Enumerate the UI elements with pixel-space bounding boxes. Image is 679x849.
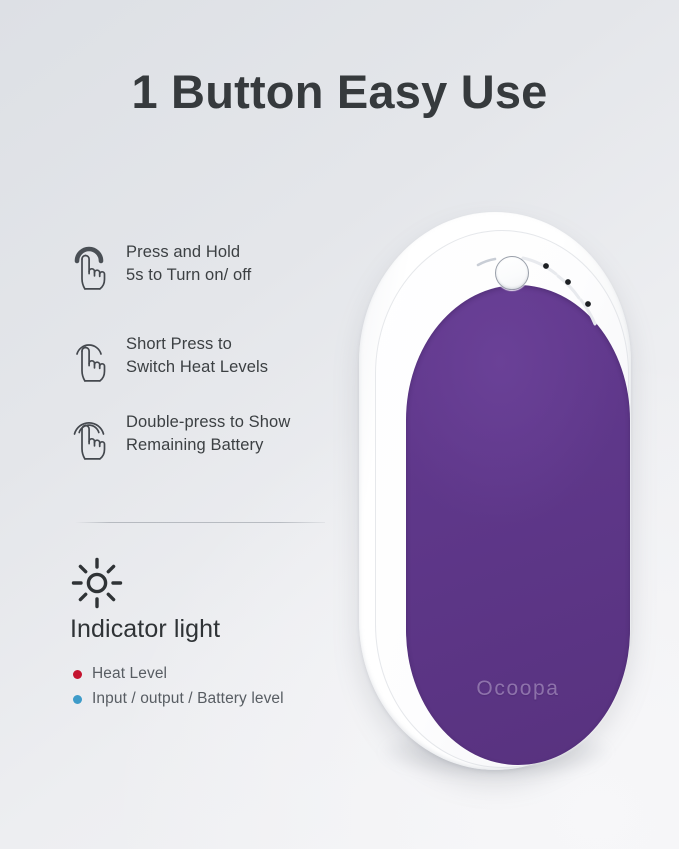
feature-line-1: Short Press to xyxy=(126,335,232,353)
feature-text: Short Press to Switch Heat Levels xyxy=(126,330,268,380)
feature-text: Press and Hold 5s to Turn on/ off xyxy=(126,238,251,288)
legend-label: Input / output / Battery level xyxy=(92,690,284,708)
device-rim: Ocoopa xyxy=(375,230,629,768)
short-press-icon xyxy=(66,332,112,384)
product-image-hand-warmer: Ocoopa xyxy=(352,205,642,795)
feature-line-2: Switch Heat Levels xyxy=(126,356,268,379)
double-press-icon xyxy=(66,410,112,462)
feature-item-press-and-hold: Press and Hold 5s to Turn on/ off xyxy=(66,238,366,292)
press-and-hold-icon xyxy=(66,240,112,292)
feature-line-1: Press and Hold xyxy=(126,243,240,261)
legend-dot-red xyxy=(73,670,82,679)
legend-dot-blue xyxy=(73,695,82,704)
page-title: 1 Button Easy Use xyxy=(0,66,679,118)
device-body: Ocoopa xyxy=(359,212,631,770)
feature-item-double-press: Double-press to Show Remaining Battery xyxy=(66,408,366,462)
legend-label: Heat Level xyxy=(92,665,167,683)
feature-item-short-press: Short Press to Switch Heat Levels xyxy=(66,330,366,384)
feature-line-2: 5s to Turn on/ off xyxy=(126,264,251,287)
device-heating-panel: Ocoopa xyxy=(406,285,630,765)
feature-line-2: Remaining Battery xyxy=(126,434,290,457)
brand-logo: Ocoopa xyxy=(406,677,630,701)
indicator-light-heading: Indicator light xyxy=(70,615,220,644)
legend-item-heat-level: Heat Level xyxy=(73,665,167,683)
feature-line-1: Double-press to Show xyxy=(126,413,290,431)
power-button[interactable] xyxy=(495,256,529,290)
section-divider xyxy=(75,522,325,523)
sun-icon xyxy=(70,556,124,610)
infographic-page: 1 Button Easy Use Press and Hold 5s to T… xyxy=(0,0,679,849)
legend-item-input-output-battery: Input / output / Battery level xyxy=(73,690,284,708)
feature-text: Double-press to Show Remaining Battery xyxy=(126,408,290,458)
